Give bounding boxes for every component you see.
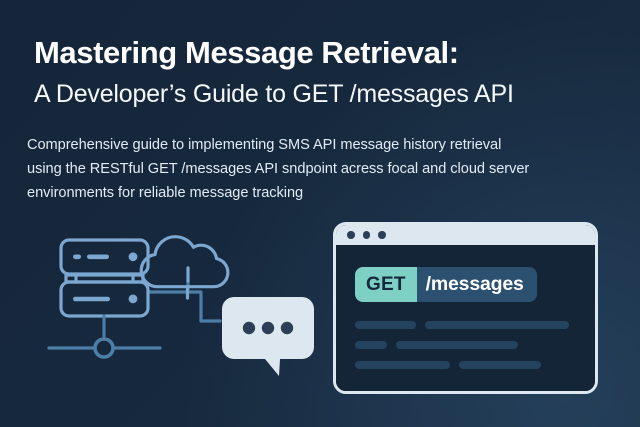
placeholder-bar (396, 341, 518, 349)
headline-block: Mastering Message Retrieval: A Developer… (34, 34, 614, 110)
page-subtitle: A Developer’s Guide to GET /messages API (34, 78, 614, 110)
page-title: Mastering Message Retrieval: (34, 34, 614, 72)
placeholder-bar (355, 321, 416, 329)
placeholder-bar (355, 341, 387, 349)
description-line-1: Comprehensive guide to implementing SMS … (27, 133, 617, 157)
placeholder-row (355, 321, 569, 329)
api-endpoint-pill[interactable]: GET /messages (355, 267, 537, 302)
cloud-icon (141, 237, 228, 298)
placeholder-bar (459, 361, 541, 369)
http-method-badge: GET (355, 267, 417, 302)
placeholder-bar (425, 321, 569, 329)
description-line-2: using the RESTful GET /messages API sndp… (27, 157, 617, 181)
description-line-3: environments for reliable message tracki… (27, 181, 617, 205)
chat-bubble-icon (222, 297, 314, 376)
infrastructure-illustration (44, 224, 334, 400)
window-minimize-dot-icon[interactable] (363, 231, 371, 239)
browser-titlebar (336, 225, 595, 245)
endpoint-path-label: /messages (417, 267, 537, 302)
poster-canvas: Mastering Message Retrieval: A Developer… (0, 0, 640, 427)
network-node-icon (49, 316, 160, 357)
content-placeholder-rows (355, 321, 569, 381)
connector-lines (148, 268, 220, 321)
window-maximize-dot-icon[interactable] (378, 231, 386, 239)
description-paragraph: Comprehensive guide to implementing SMS … (27, 133, 617, 205)
browser-content-area: GET /messages (336, 245, 595, 391)
window-close-dot-icon[interactable] (347, 231, 355, 239)
placeholder-bar (355, 361, 450, 369)
placeholder-row (355, 361, 569, 369)
server-stack-icon (61, 240, 148, 316)
browser-window-mockup: GET /messages (333, 222, 598, 394)
placeholder-row (355, 341, 569, 349)
